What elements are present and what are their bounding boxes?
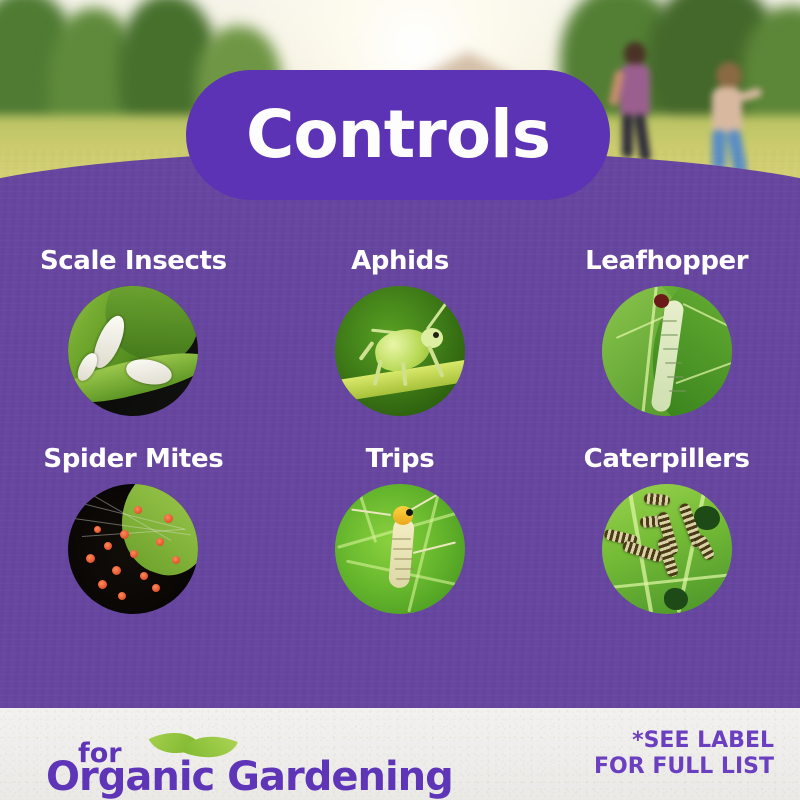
- aphids-photo: [335, 286, 465, 416]
- pest-item-trips[interactable]: Trips: [267, 444, 534, 614]
- pest-label: Trips: [366, 444, 435, 474]
- pest-thumbnail-wrap: [335, 484, 465, 614]
- scale-insects-photo: [68, 286, 198, 416]
- pest-label: Caterpillers: [584, 444, 750, 474]
- pest-item-caterpillers[interactable]: Caterpillers: [533, 444, 800, 614]
- pest-label: Scale Insects: [40, 246, 227, 276]
- trips-photo: [335, 484, 465, 614]
- note-line-1: *SEE LABEL: [594, 728, 774, 754]
- see-label-note: *SEE LABEL FOR FULL LIST: [594, 728, 774, 781]
- leafhopper-photo: [602, 286, 732, 416]
- page-title: Controls: [246, 102, 550, 168]
- pest-item-spider-mites[interactable]: Spider Mites: [0, 444, 267, 614]
- pest-thumbnail-wrap: [602, 484, 732, 614]
- infographic-poster: Controls Scale Insects: [0, 0, 800, 800]
- note-line-2: FOR FULL LIST: [594, 754, 774, 780]
- pest-item-leafhopper[interactable]: Leafhopper: [533, 246, 800, 416]
- pest-grid: Scale Insects Aphids: [0, 246, 800, 614]
- logo-brand-text: Organic Gardening: [46, 754, 453, 800]
- pest-thumbnail-wrap: [68, 484, 198, 614]
- brand-logo[interactable]: for Organic Gardening: [46, 716, 446, 794]
- spider-mites-photo: [68, 484, 198, 614]
- pest-thumbnail-wrap: [68, 286, 198, 416]
- caterpillers-photo: [602, 484, 732, 614]
- pest-thumbnail-wrap: [602, 286, 732, 416]
- pest-item-scale-insects[interactable]: Scale Insects: [0, 246, 267, 416]
- pest-row-1: Scale Insects Aphids: [0, 246, 800, 416]
- pest-row-2: Spider Mites: [0, 444, 800, 614]
- pest-label: Spider Mites: [43, 444, 223, 474]
- pest-label: Leafhopper: [585, 246, 748, 276]
- title-pill: Controls: [186, 70, 610, 200]
- pest-item-aphids[interactable]: Aphids: [267, 246, 534, 416]
- pest-label: Aphids: [351, 246, 449, 276]
- pest-thumbnail-wrap: [335, 286, 465, 416]
